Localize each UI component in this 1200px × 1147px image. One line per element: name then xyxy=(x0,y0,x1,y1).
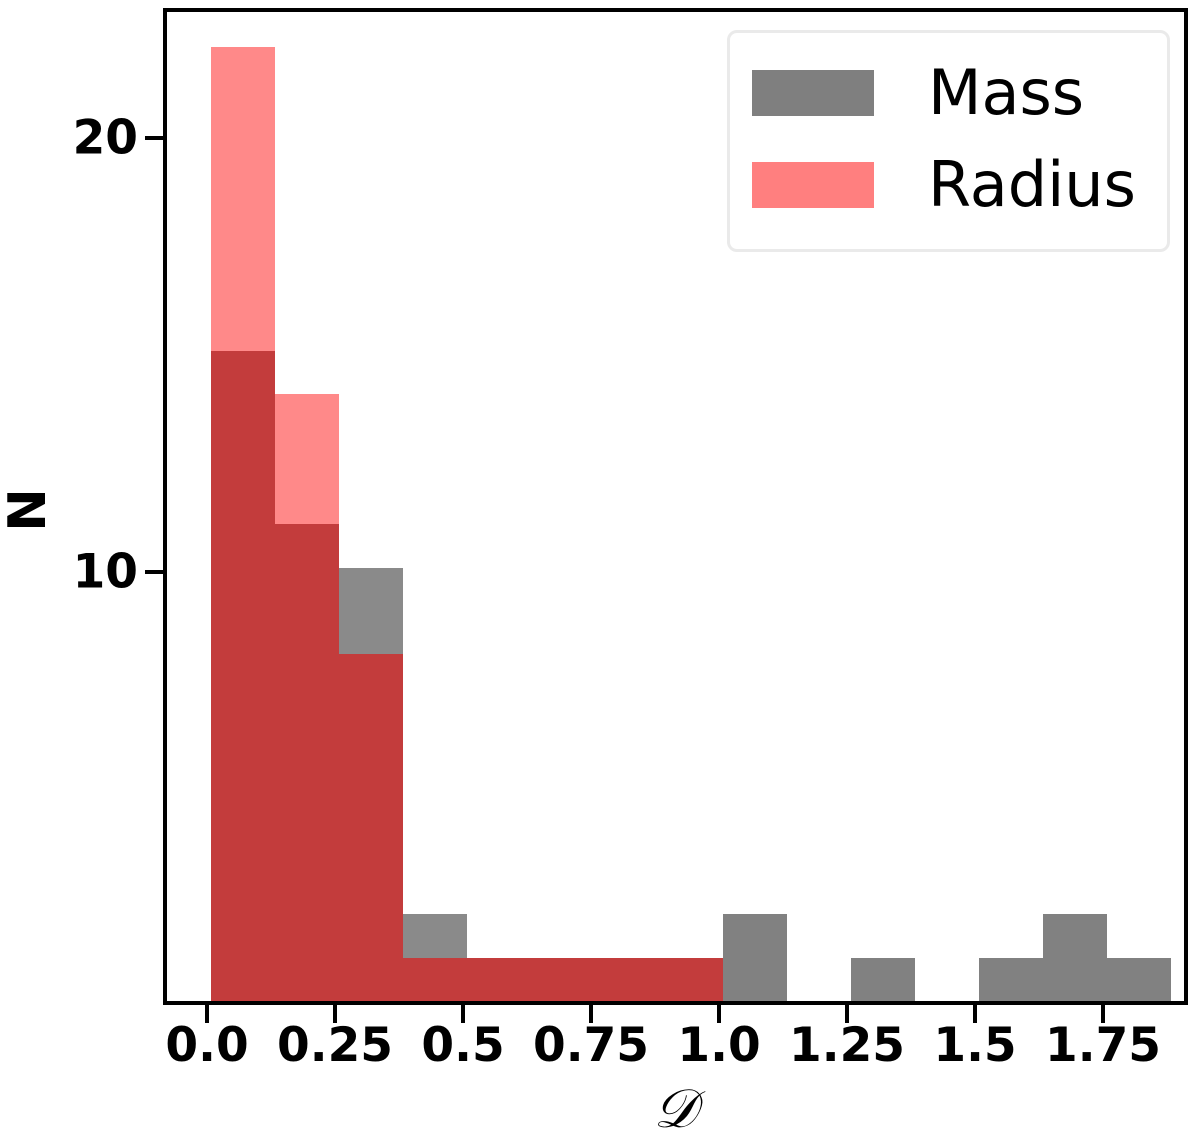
histogram-bar-overlap xyxy=(531,958,595,1001)
y-tick-label: 10 xyxy=(73,548,138,595)
histogram-bar-overlap xyxy=(211,351,275,1001)
histogram-bar-mass xyxy=(1107,958,1171,1001)
histogram-bar-mass xyxy=(851,958,915,1001)
x-tick-label: 0.75 xyxy=(533,1022,649,1069)
x-tick-label: 0.25 xyxy=(277,1022,393,1069)
y-tick-mark xyxy=(145,136,163,140)
x-tick-label: 1.0 xyxy=(677,1022,760,1069)
x-tick-label: 1.5 xyxy=(933,1022,1016,1069)
legend-swatch-mass xyxy=(752,70,874,116)
histogram-bar-overlap xyxy=(659,958,723,1001)
chart-legend: Mass Radius xyxy=(727,30,1170,252)
legend-label-radius: Radius xyxy=(928,154,1136,216)
legend-item-mass: Mass xyxy=(752,47,1145,139)
histogram-bar-mass xyxy=(723,914,787,1001)
x-tick-label: 1.25 xyxy=(789,1022,905,1069)
legend-swatch-radius xyxy=(752,162,874,208)
legend-label-mass: Mass xyxy=(928,62,1084,124)
x-axis-label: 𝒟 xyxy=(653,1082,696,1136)
y-tick-mark xyxy=(145,570,163,574)
x-tick-label: 0.5 xyxy=(421,1022,504,1069)
x-tick-label: 1.75 xyxy=(1045,1022,1161,1069)
x-tick-label: 0.0 xyxy=(165,1022,248,1069)
histogram-bar-overlap xyxy=(467,958,531,1001)
legend-item-radius: Radius xyxy=(752,139,1145,231)
histogram-bar-mass xyxy=(1043,914,1107,1001)
histogram-bar-overlap xyxy=(339,654,403,1001)
histogram-bar-overlap xyxy=(275,524,339,1001)
histogram-bar-overlap xyxy=(403,958,467,1001)
histogram-figure: 0.00.250.50.751.01.251.51.751020 𝒟 N Mas… xyxy=(0,0,1200,1147)
y-tick-label: 20 xyxy=(73,115,138,162)
histogram-bar-overlap xyxy=(595,958,659,1001)
y-axis-label: N xyxy=(2,488,54,532)
histogram-bar-mass xyxy=(979,958,1043,1001)
